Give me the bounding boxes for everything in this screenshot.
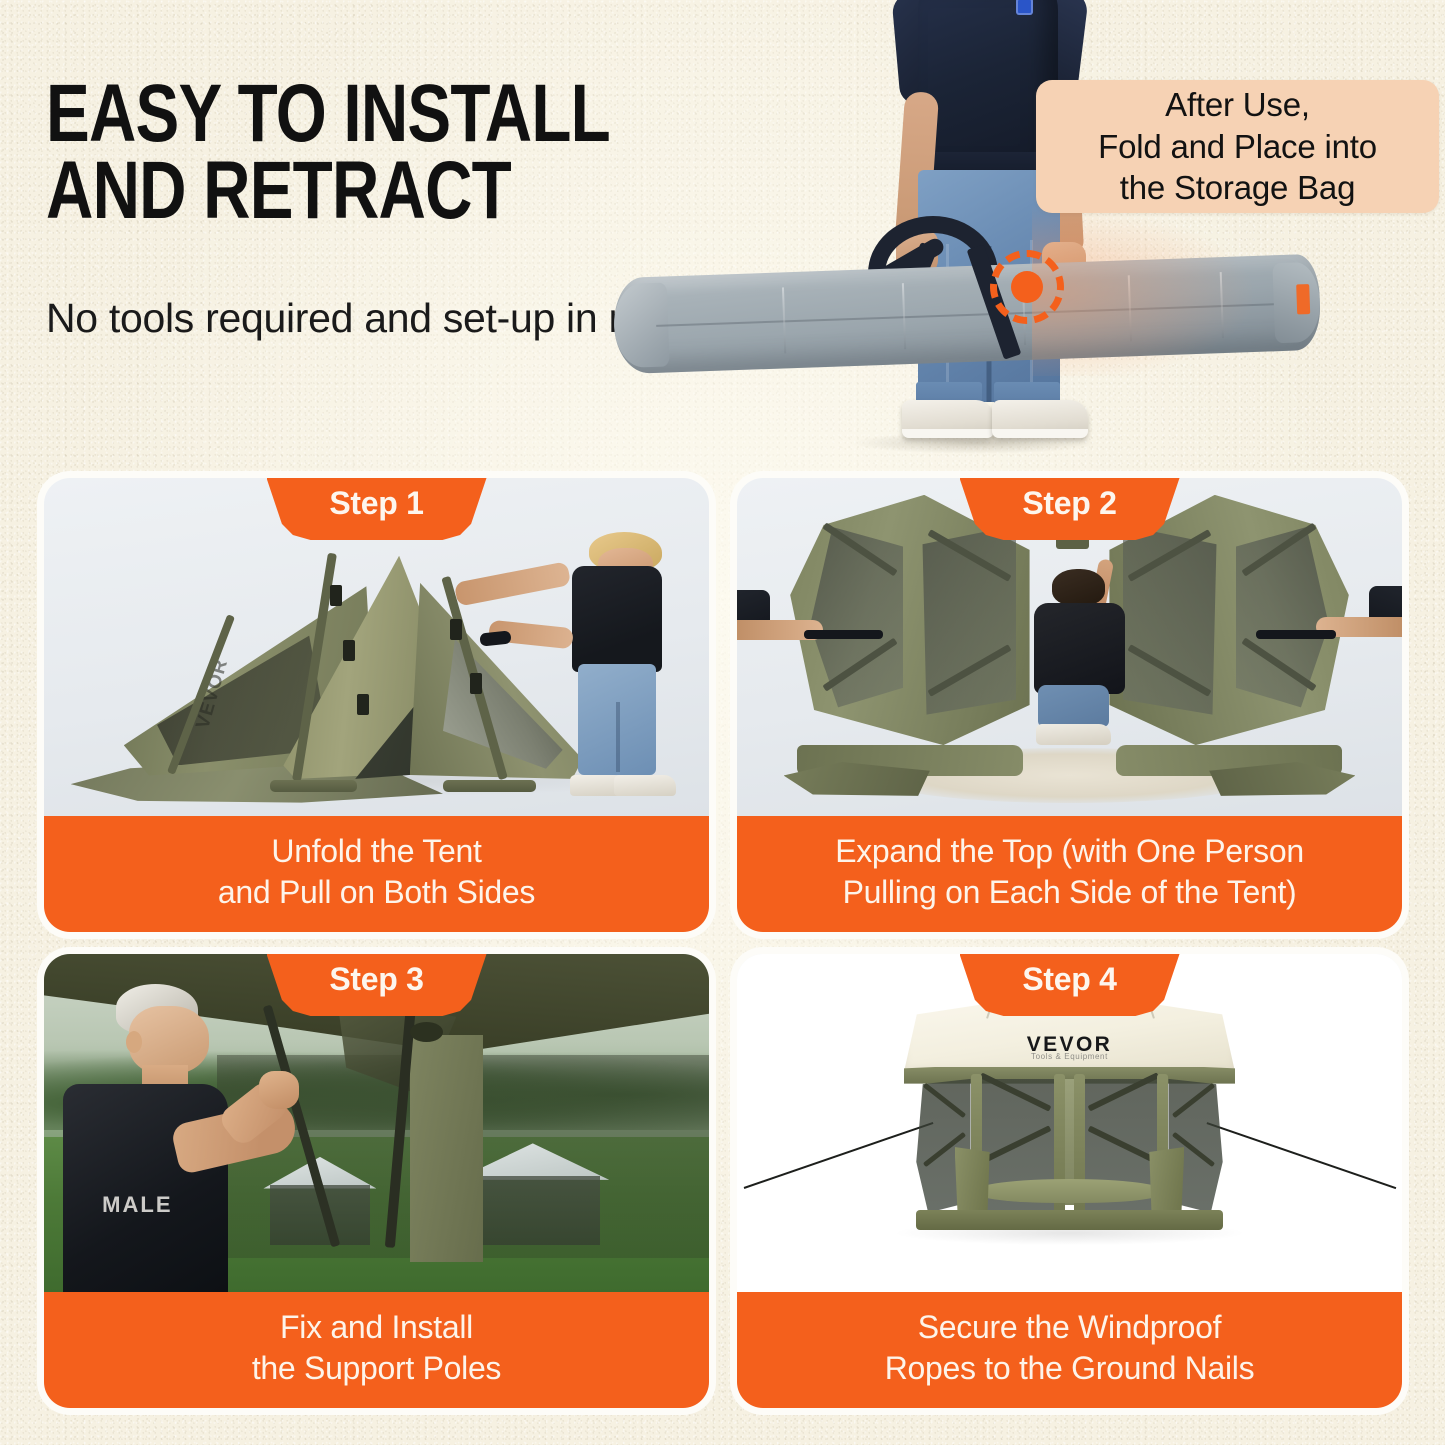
raised-arm <box>454 561 571 606</box>
fabric-clip <box>470 673 482 694</box>
steps-grid: VEVOR <box>44 478 1402 1408</box>
step-2-photo: Step 2 <box>737 478 1402 816</box>
tent-floor-ring <box>974 1179 1166 1203</box>
step-1-caption: Unfold the Tent and Pull on Both Sides <box>44 816 709 932</box>
shirt-logo-patch <box>1016 0 1033 15</box>
step-4-photo: VEVOR Tools & Equipment <box>737 954 1402 1292</box>
fabric-clip <box>343 640 355 661</box>
hand-gripping-pole <box>259 1071 299 1108</box>
fabric-clip <box>330 585 342 606</box>
infographic-page: EASY TO INSTALL AND RETRACT No tools req… <box>0 0 1445 1445</box>
assembled-gazebo-tent: VEVOR Tools & Equipment <box>910 991 1229 1234</box>
step-card-4[interactable]: VEVOR Tools & Equipment <box>737 954 1402 1408</box>
shirt-print-text: MALE <box>102 1192 172 1218</box>
step-3-photo: MALE Step 3 <box>44 954 709 1292</box>
sneaker <box>1036 724 1112 745</box>
tent-body <box>465 1176 600 1245</box>
head <box>1052 569 1106 606</box>
tent-door-curtain <box>410 1035 483 1262</box>
hero-illustration: After Use, Fold and Place into the Stora… <box>600 0 1445 474</box>
pull-handle <box>480 631 512 647</box>
headline-line-2: AND RETRACT <box>46 152 606 229</box>
vevor-logo-tagline: Tools & Equipment <box>1031 1052 1108 1061</box>
blue-jeans <box>578 664 656 775</box>
step-3-caption-text: Fix and Install the Support Poles <box>62 1307 691 1389</box>
step-1-photo: VEVOR <box>44 478 709 816</box>
sneaker <box>614 775 675 796</box>
pull-strap-handle <box>804 630 884 639</box>
person-installing-pole: MALE <box>57 981 323 1292</box>
storage-callout-bubble: After Use, Fold and Place into the Stora… <box>1036 80 1439 213</box>
right-sneaker <box>992 400 1088 438</box>
pull-strap-handle <box>1256 630 1336 639</box>
left-sneaker <box>902 400 994 438</box>
headline-line-1: EASY TO INSTALL <box>46 75 606 152</box>
ear <box>126 1031 142 1053</box>
step-3-caption: Fix and Install the Support Poles <box>44 1292 709 1408</box>
person-unfolding-tent <box>536 532 676 796</box>
person-expanding-top <box>1030 569 1130 745</box>
fabric-clip <box>450 619 462 640</box>
step-card-3[interactable]: MALE Step 3 Fix and Install the Support … <box>44 954 709 1408</box>
step-2-badge-label: Step 2 <box>1022 478 1116 522</box>
bag-seam <box>657 303 1292 327</box>
focus-target-marker <box>990 250 1064 324</box>
step-1-badge: Step 1 <box>267 478 487 540</box>
black-tshirt <box>1034 603 1126 694</box>
step-4-badge: Step 4 <box>960 954 1180 1016</box>
tent-foot <box>270 780 356 792</box>
step-card-2[interactable]: Step 2 Expand the Top (with One Person P… <box>737 478 1402 932</box>
step-4-caption: Secure the Windproof Ropes to the Ground… <box>737 1292 1402 1408</box>
step-4-badge-label: Step 4 <box>1022 954 1116 998</box>
step-2-caption: Expand the Top (with One Person Pulling … <box>737 816 1402 932</box>
black-tshirt <box>572 566 661 671</box>
step-2-badge: Step 2 <box>960 478 1180 540</box>
step-card-1[interactable]: VEVOR <box>44 478 709 932</box>
tent-center-hub <box>410 1022 443 1042</box>
step-1-caption-text: Unfold the Tent and Pull on Both Sides <box>62 831 691 913</box>
jeans-knee <box>1038 685 1110 727</box>
bag-orange-tag <box>1296 284 1310 314</box>
fabric-clip <box>357 694 369 715</box>
black-tshirt: MALE <box>63 1084 228 1292</box>
tent-foot <box>443 780 536 792</box>
target-center-dot <box>1011 271 1043 303</box>
storage-callout-text: After Use, Fold and Place into the Stora… <box>1098 84 1377 209</box>
storage-bag <box>613 254 1322 375</box>
step-2-caption-text: Expand the Top (with One Person Pulling … <box>755 831 1384 913</box>
tent-ground-skirt <box>916 1210 1222 1229</box>
step-1-badge-label: Step 1 <box>329 478 423 522</box>
step-4-caption-text: Secure the Windproof Ropes to the Ground… <box>755 1307 1384 1389</box>
step-3-badge-label: Step 3 <box>329 954 423 998</box>
